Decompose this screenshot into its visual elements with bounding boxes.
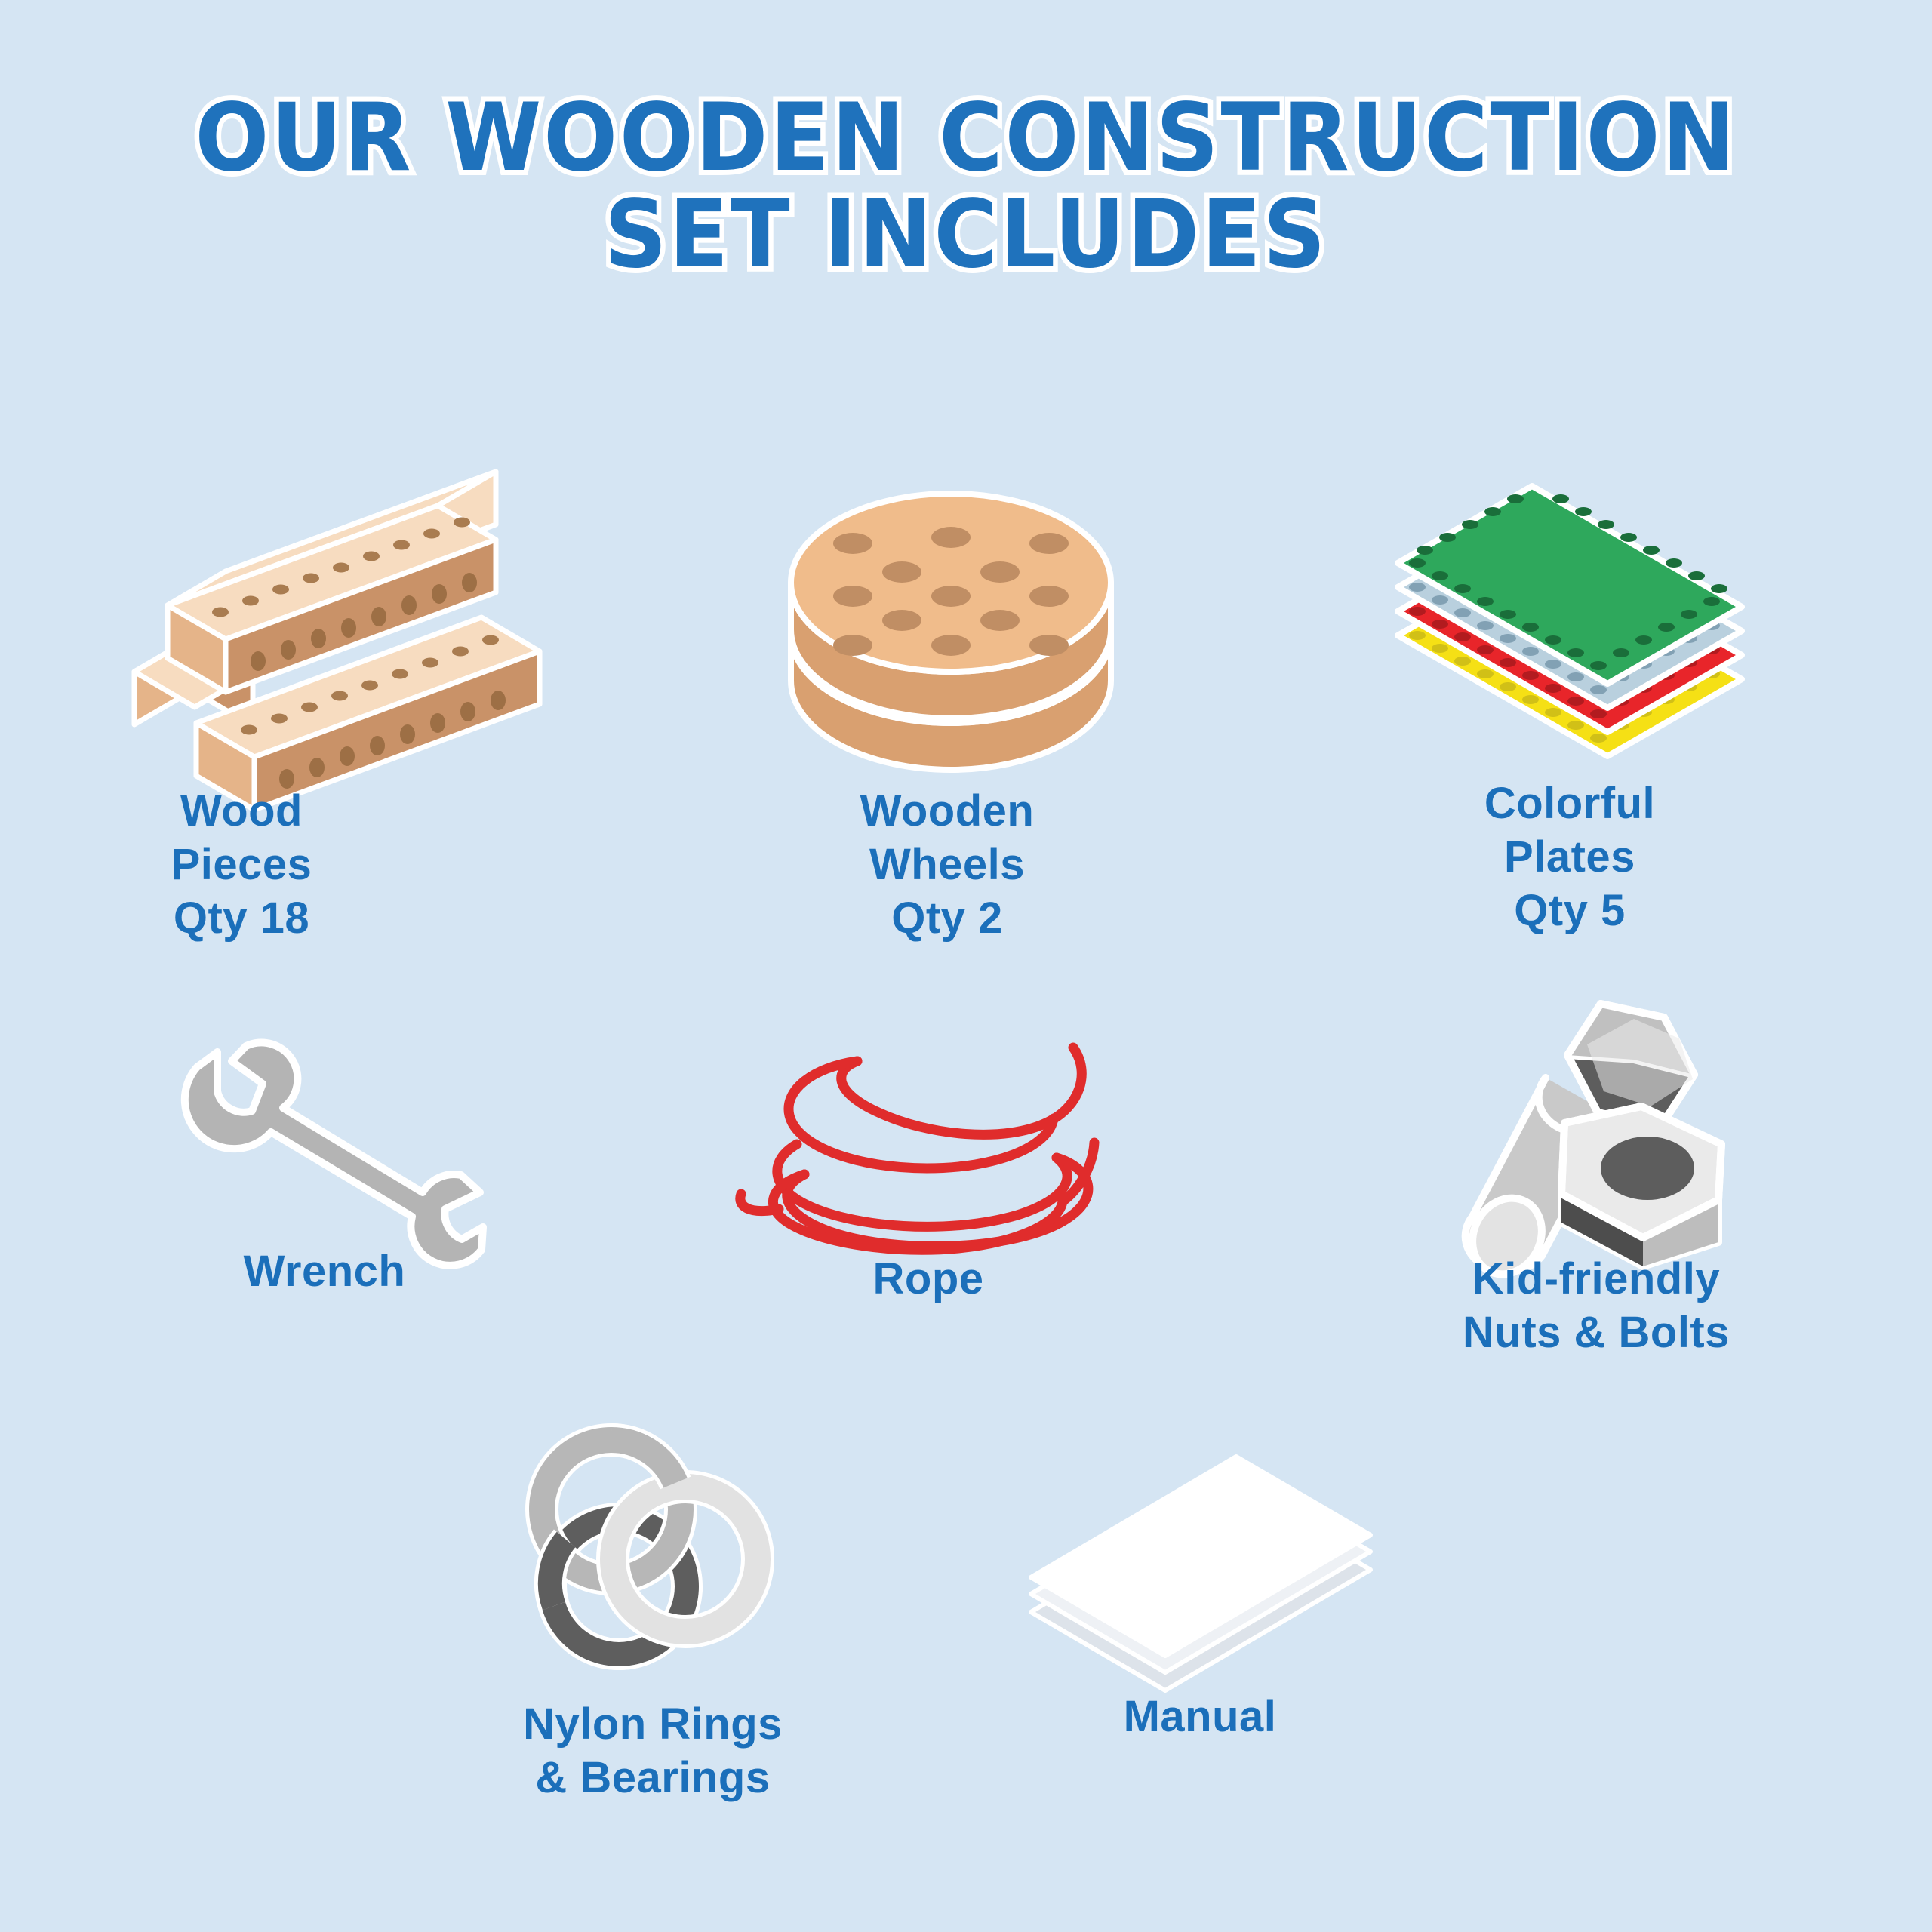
page-title: OUR WOODEN CONSTRUCTION SET INCLUDES: [0, 91, 1932, 283]
caption-wrench: Wrench: [91, 1245, 558, 1299]
caption-manual: Manual: [966, 1690, 1434, 1744]
caption-wooden-wheels: Wooden Wheels Qty 2: [713, 785, 1181, 945]
nylon-rings-icon: [521, 1426, 792, 1683]
wrench-icon: [174, 1019, 506, 1268]
rope-coil-icon: [724, 1034, 1132, 1291]
caption-nylon-rings: Nylon Rings & Bearings: [419, 1698, 887, 1805]
title-line-1: OUR WOODEN CONSTRUCTION: [68, 91, 1865, 187]
nut-and-bolt-icon: [1453, 996, 1770, 1268]
infographic-canvas: OUR WOODEN CONSTRUCTION SET INCLUDES: [0, 0, 1932, 1932]
caption-wood-pieces: Wood Pieces Qty 18: [8, 785, 475, 945]
caption-colorful-plates: Colorful Plates Qty 5: [1336, 777, 1804, 937]
wooden-wheels-icon: [777, 491, 1124, 755]
caption-nuts-bolts: Kid-friendly Nuts & Bolts: [1362, 1253, 1830, 1360]
wooden-beams-icon: [121, 445, 543, 770]
title-line-2: SET INCLUDES: [68, 187, 1865, 284]
colorful-plates-icon: [1381, 468, 1758, 770]
caption-rope: Rope: [694, 1253, 1162, 1306]
manual-pages-icon: [1019, 1434, 1381, 1690]
